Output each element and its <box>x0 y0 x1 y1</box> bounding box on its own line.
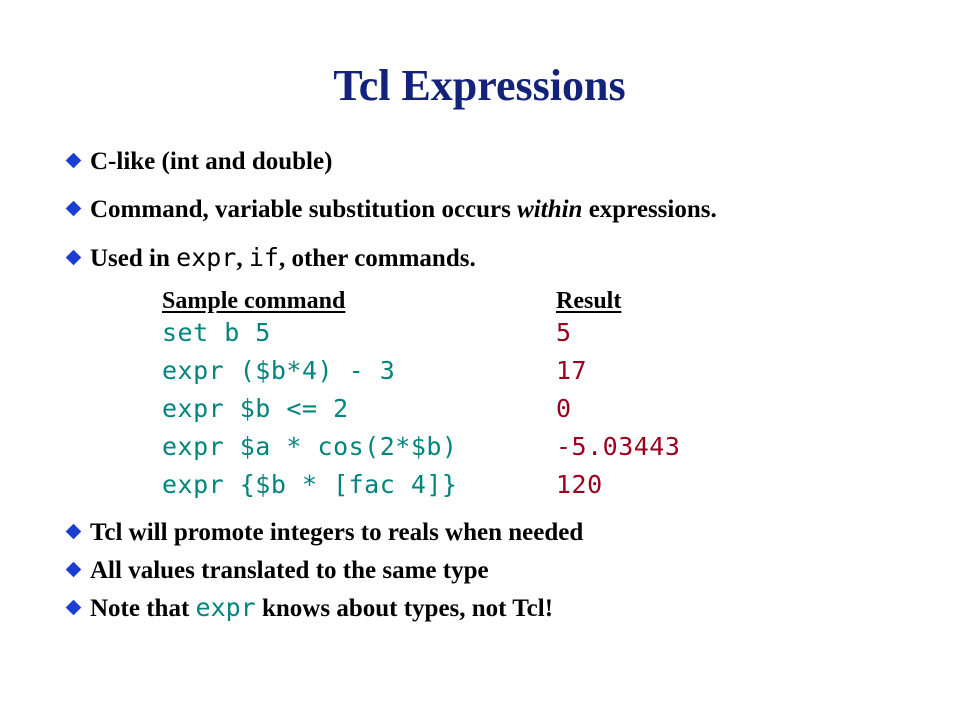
text-run-code-black: if <box>249 243 279 272</box>
bullet-item-used-in: Used in expr, if, other commands. <box>64 244 476 274</box>
table-header-row: Sample command Result <box>162 288 722 318</box>
cell-command: set b 5 <box>162 318 271 347</box>
sample-command-table: Sample command Result set b 5 5 expr ($b… <box>162 288 722 508</box>
bullet-item-c-like: C-like (int and double) <box>64 148 332 177</box>
page-title: Tcl Expressions <box>0 62 959 110</box>
text-run-text: , other commands. <box>279 245 476 272</box>
table-row: expr $b <= 2 0 <box>162 394 722 432</box>
bullet-item-same-type: All values translated to the same type <box>64 557 489 586</box>
table-row: expr {$b * [fac 4]} 120 <box>162 470 722 508</box>
cell-result: 0 <box>556 394 572 423</box>
text-run-code-black: expr <box>176 243 236 272</box>
text-run-text: Tcl will promote integers to reals when … <box>90 519 583 546</box>
slide-canvas: Tcl Expressions C-like (int and double) … <box>0 0 959 719</box>
table-row: expr $a * cos(2*$b) -5.03443 <box>162 432 722 470</box>
bullet-item-substitution: Command, variable substitution occurs wi… <box>64 196 717 225</box>
cell-result: 120 <box>556 470 603 499</box>
table-row: set b 5 5 <box>162 318 722 356</box>
column-header-sample-command: Sample command <box>162 288 345 315</box>
table-row: expr ($b*4) - 3 17 <box>162 356 722 394</box>
text-run-text: Used in <box>90 245 176 272</box>
text-run-text: All values translated to the same type <box>90 557 489 584</box>
bullet-text-expr-knows-types: Note that expr knows about types, not Tc… <box>90 594 553 624</box>
text-run-italic: within <box>517 196 582 223</box>
text-run-text: Note that <box>90 595 196 622</box>
cell-result: 5 <box>556 318 572 347</box>
cell-result: -5.03443 <box>556 432 680 461</box>
bullet-text-substitution: Command, variable substitution occurs wi… <box>90 196 717 225</box>
cell-command: expr $b <= 2 <box>162 394 349 423</box>
bullet-text-c-like: C-like (int and double) <box>90 148 332 177</box>
cell-command: expr $a * cos(2*$b) <box>162 432 457 461</box>
cell-command: expr ($b*4) - 3 <box>162 356 395 385</box>
column-header-result: Result <box>556 288 621 315</box>
cell-command: expr {$b * [fac 4]} <box>162 470 457 499</box>
text-run-text: , <box>236 245 249 272</box>
bullet-text-used-in: Used in expr, if, other commands. <box>90 244 476 274</box>
text-run-text: expressions. <box>582 196 716 223</box>
bullet-text-promote-integers: Tcl will promote integers to reals when … <box>90 519 583 548</box>
cell-result: 17 <box>556 356 587 385</box>
text-run-text: C-like (int and double) <box>90 148 332 175</box>
bullet-item-promote-integers: Tcl will promote integers to reals when … <box>64 519 583 548</box>
bullet-item-expr-knows-types: Note that expr knows about types, not Tc… <box>64 594 553 624</box>
bullet-text-same-type: All values translated to the same type <box>90 557 489 586</box>
text-run-text: knows about types, not Tcl! <box>256 595 553 622</box>
text-run-text: Command, variable substitution occurs <box>90 196 517 223</box>
text-run-code-teal: expr <box>196 593 256 622</box>
